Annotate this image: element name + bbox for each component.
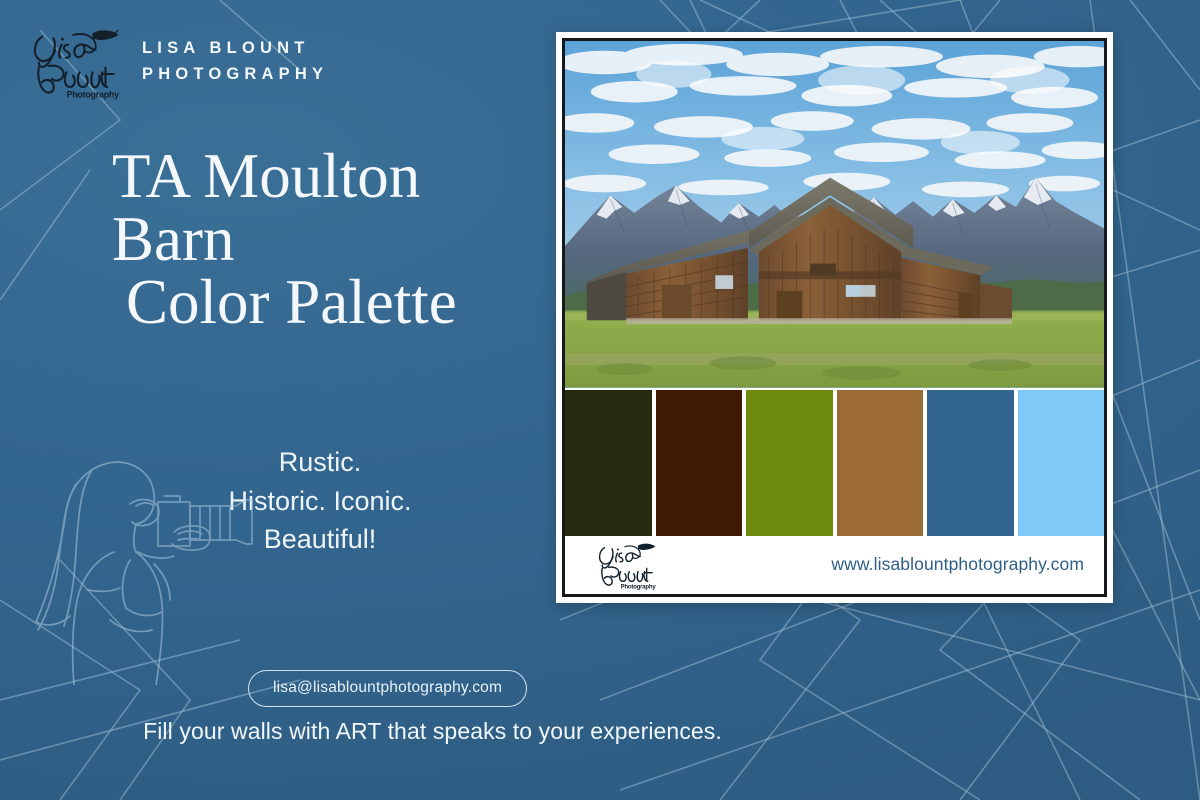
email-pill[interactable]: lisa@lisablountphotography.com <box>248 670 527 707</box>
swatch-sky-blue[interactable] <box>1018 390 1105 536</box>
brand-wordmark: LISA BLOUNT PHOTOGRAPHY <box>142 40 328 82</box>
color-palette-card: Photography www.lisablountphotography.co… <box>556 32 1113 603</box>
swatch-steel-blue[interactable] <box>927 390 1014 536</box>
title-line-2: Barn <box>112 208 542 271</box>
website-url[interactable]: www.lisablountphotography.com <box>831 554 1092 575</box>
title-line-1: TA Moulton <box>112 145 542 208</box>
header: Photography LISA BLOUNT PHOTOGRAPHY <box>24 22 328 100</box>
brand-logo-icon: Photography <box>24 22 122 100</box>
title-line-3: Color Palette <box>126 271 542 334</box>
card-inner-frame: Photography www.lisablountphotography.co… <box>562 38 1107 597</box>
svg-text:Photography: Photography <box>621 584 657 590</box>
swatch-dark-olive[interactable] <box>565 390 652 536</box>
svg-text:Photography: Photography <box>67 90 120 100</box>
brand-line-1: LISA BLOUNT <box>142 40 328 57</box>
swatch-caramel-tan[interactable] <box>837 390 924 536</box>
card-footer: Photography www.lisablountphotography.co… <box>565 536 1104 594</box>
page-title: TA Moulton Barn Color Palette <box>112 145 542 334</box>
barn-photo <box>565 41 1104 388</box>
swatch-olive-green[interactable] <box>746 390 833 536</box>
swatch-dark-brown[interactable] <box>656 390 743 536</box>
photographer-illustration <box>18 440 278 685</box>
tagline: Fill your walls with ART that speaks to … <box>0 718 865 745</box>
footer-brand-logo-icon: Photography <box>575 538 675 590</box>
brand-line-2: PHOTOGRAPHY <box>142 66 328 83</box>
palette-swatch-row <box>565 388 1104 536</box>
